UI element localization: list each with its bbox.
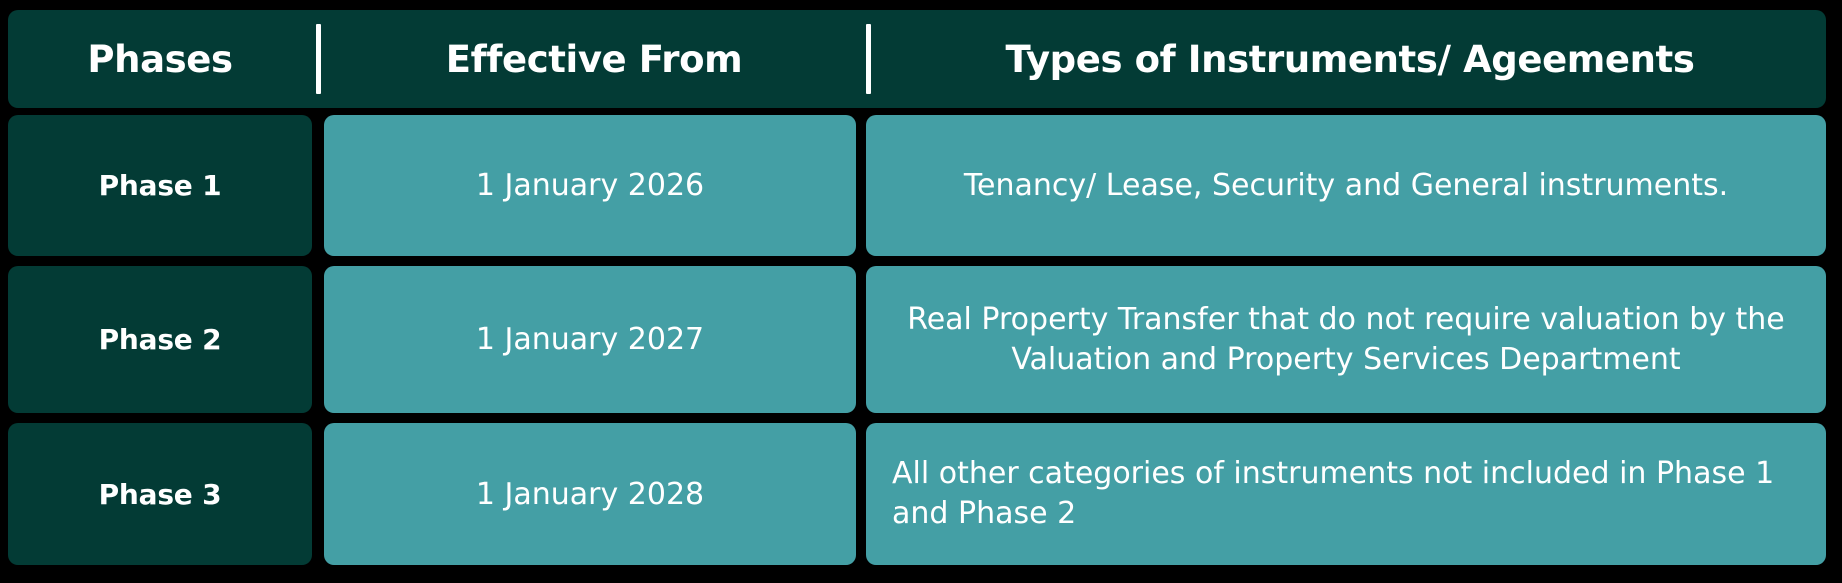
header-divider-1 xyxy=(316,24,321,94)
phases-table: Phases Effective From Types of Instrumen… xyxy=(0,0,1842,583)
header-divider-2 xyxy=(866,24,871,94)
table-row: Phase 1 xyxy=(8,115,312,256)
table-cell-effective-from: 1 January 2027 xyxy=(324,266,856,413)
table-header-row: Phases Effective From Types of Instrumen… xyxy=(8,10,1826,108)
column-header-effective-from: Effective From xyxy=(324,10,864,108)
table-cell-instruments: All other categories of instruments not … xyxy=(866,423,1826,565)
column-header-phases: Phases xyxy=(8,10,312,108)
column-header-types-of-instruments: Types of Instruments/ Ageements xyxy=(874,10,1826,108)
table-row: Phase 2 xyxy=(8,266,312,413)
table-cell-instruments: Real Property Transfer that do not requi… xyxy=(866,266,1826,413)
table-cell-instruments: Tenancy/ Lease, Security and General ins… xyxy=(866,115,1826,256)
table-cell-effective-from: 1 January 2026 xyxy=(324,115,856,256)
table-cell-effective-from: 1 January 2028 xyxy=(324,423,856,565)
table-row: Phase 3 xyxy=(8,423,312,565)
